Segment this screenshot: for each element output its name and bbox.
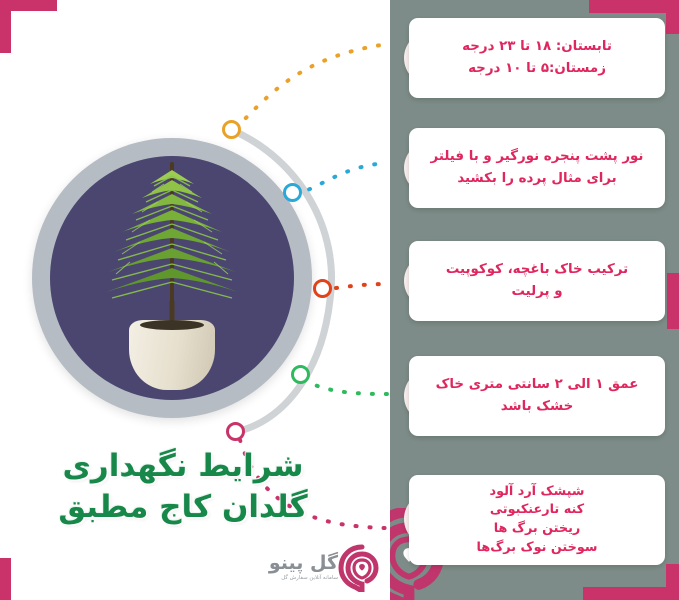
light-line-2: برای مثال پرده را بکشید bbox=[457, 171, 616, 186]
pests-line-3: ریختن برگ ها bbox=[494, 521, 581, 536]
pests-line-1: شپشک آرد آلود bbox=[490, 484, 585, 499]
temperature-line-2: زمستان:۵ تا ۱۰ درجه bbox=[468, 61, 606, 76]
info-row-water: عمق ۱ الی ۲ سانتی متری خاک خشک باشد bbox=[390, 346, 679, 446]
temperature-line-1: تابستان: ۱۸ تا ۲۳ درجه bbox=[462, 39, 612, 54]
marker-temperature[interactable] bbox=[222, 120, 241, 139]
marker-soil[interactable] bbox=[313, 279, 332, 298]
info-row-soil: ترکیب خاک باغچه، کوکوپیت و پرلیت bbox=[390, 231, 679, 331]
info-card-soil: ترکیب خاک باغچه، کوکوپیت و پرلیت bbox=[409, 241, 665, 321]
page-title: شرایط نگهداری گلدان کاج مطبق bbox=[18, 446, 348, 528]
corner-bracket-bottom-left bbox=[0, 558, 57, 600]
info-card-temperature: تابستان: ۱۸ تا ۲۳ درجه زمستان:۵ تا ۱۰ در… bbox=[409, 18, 665, 98]
infographic-root: شرایط نگهداری گلدان کاج مطبق گل پینو سام… bbox=[0, 0, 679, 600]
flower-pin-logo-icon bbox=[338, 544, 386, 592]
marker-light[interactable] bbox=[283, 183, 302, 202]
info-card-pests: شپشک آرد آلود کنه تارعنکبوتی ریختن برگ ه… bbox=[409, 475, 665, 565]
plant-image-ring bbox=[32, 138, 312, 418]
page-title-line-1: شرایط نگهداری bbox=[18, 446, 348, 487]
info-panel: تابستان: ۱۸ تا ۲۳ درجه زمستان:۵ تا ۱۰ در… bbox=[390, 0, 679, 600]
soil-line-2: و پرلیت bbox=[512, 284, 563, 299]
plant-image-disc bbox=[50, 156, 294, 400]
brand-tagline: سامانه آنلاین سفارش گل bbox=[281, 575, 338, 581]
brand-name: گل پینو bbox=[269, 552, 338, 574]
brand-logo[interactable]: گل پینو سامانه آنلاین سفارش گل bbox=[278, 548, 382, 592]
info-row-pests: شپشک آرد آلود کنه تارعنکبوتی ریختن برگ ه… bbox=[390, 462, 679, 576]
accent-bar-bottom bbox=[583, 587, 679, 600]
corner-bracket-top-left bbox=[0, 0, 57, 53]
pot-soil-rim bbox=[140, 320, 204, 330]
page-title-line-2: گلدان کاج مطبق bbox=[18, 487, 348, 528]
marker-pests[interactable] bbox=[226, 422, 245, 441]
info-card-light: نور پشت پنجره نورگیر و با فیلتر برای مثا… bbox=[409, 128, 665, 208]
pests-line-2: کنه تارعنکبوتی bbox=[490, 502, 584, 517]
pests-line-4: سوختن نوک برگ‌ها bbox=[477, 540, 598, 555]
water-line-2: خشک باشد bbox=[501, 399, 574, 414]
marker-water[interactable] bbox=[291, 365, 310, 384]
plant-pot bbox=[129, 320, 215, 390]
light-line-1: نور پشت پنجره نورگیر و با فیلتر bbox=[431, 149, 644, 164]
info-row-light: نور پشت پنجره نورگیر و با فیلتر برای مثا… bbox=[390, 118, 679, 218]
soil-line-1: ترکیب خاک باغچه، کوکوپیت bbox=[446, 262, 628, 277]
info-row-temperature: تابستان: ۱۸ تا ۲۳ درجه زمستان:۵ تا ۱۰ در… bbox=[390, 8, 679, 108]
left-visual-area: شرایط نگهداری گلدان کاج مطبق گل پینو سام… bbox=[0, 0, 390, 600]
info-card-water: عمق ۱ الی ۲ سانتی متری خاک خشک باشد bbox=[409, 356, 665, 436]
water-line-1: عمق ۱ الی ۲ سانتی متری خاک bbox=[436, 377, 639, 392]
